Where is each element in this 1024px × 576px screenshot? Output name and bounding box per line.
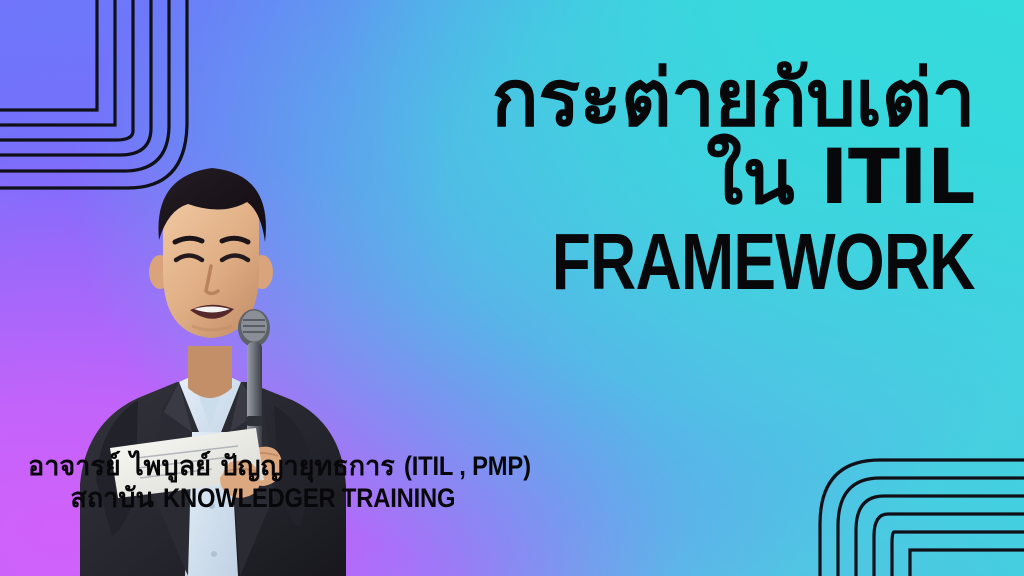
caption-institute-thai: สถาบัน — [70, 483, 163, 514]
caption-institute-name: KNOWLEDGER TRAINING — [163, 483, 455, 513]
thumbnail-canvas: กระต่ายกับเต่า ใน ITIL FRAMEWORK อาจารย์… — [0, 0, 1024, 576]
caption-line-institute: สถาบัน KNOWLEDGER TRAINING — [28, 483, 608, 514]
caption-presenter-certs: (ITIL , PMP) — [404, 451, 531, 481]
caption-line-presenter: อาจารย์ ไพบูลย์ ปัญญายุทธการ (ITIL , PMP… — [28, 451, 608, 482]
title-line-1: กระต่ายกับเต่า — [446, 62, 975, 138]
title-line-2: ใน ITIL — [446, 140, 975, 214]
title-block: กระต่ายกับเต่า ใน ITIL FRAMEWORK — [446, 62, 975, 301]
title-line-3: FRAMEWORK — [552, 223, 975, 301]
speaker-caption: อาจารย์ ไพบูลย์ ปัญญายุทธการ (ITIL , PMP… — [28, 451, 608, 514]
caption-presenter-name-thai: อาจารย์ ไพบูลย์ ปัญญายุทธการ — [28, 451, 404, 482]
